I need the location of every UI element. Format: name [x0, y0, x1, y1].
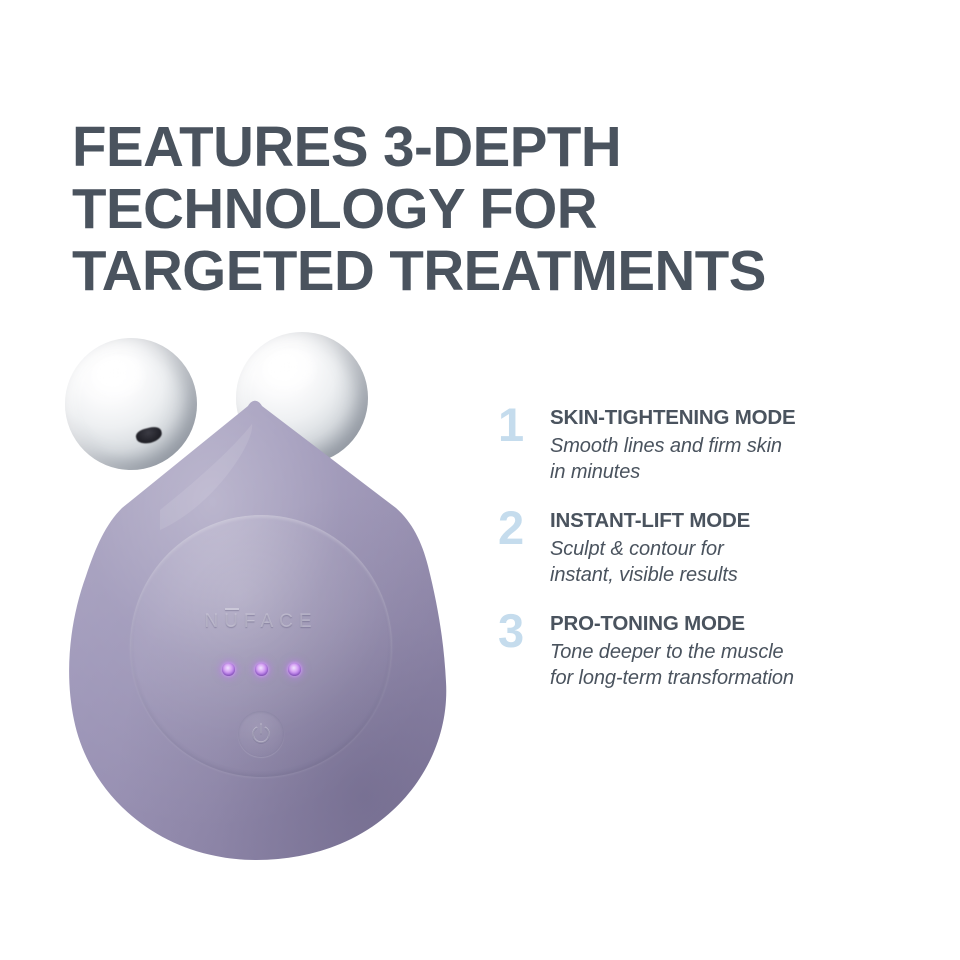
feature-description-3: Tone deeper to the muscle for long-term … [550, 639, 918, 691]
product-feature-panel: Features 3-Depth Technology for Targeted… [0, 0, 960, 960]
page-title: Features 3-Depth Technology for Targeted… [72, 116, 864, 302]
power-icon [248, 721, 274, 747]
feature-title-1: Skin-Tightening Mode [550, 406, 918, 430]
led-indicator-1 [222, 663, 235, 676]
power-button[interactable] [238, 711, 284, 757]
control-panel: NUFACE [130, 515, 392, 777]
led-indicator-group [130, 663, 392, 676]
feature-number-3: 3 [498, 610, 550, 652]
led-indicator-2 [255, 663, 268, 676]
feature-title-2: Instant-Lift Mode [550, 509, 918, 533]
feature-body-2: Instant-Lift Mode Sculpt & contour for i… [550, 507, 918, 588]
feature-body-3: Pro-Toning Mode Tone deeper to the muscl… [550, 610, 918, 691]
brand-wordmark: NUFACE [130, 611, 392, 633]
feature-list: 1 Skin-Tightening Mode Smooth lines and … [498, 404, 918, 691]
feature-item-2: 2 Instant-Lift Mode Sculpt & contour for… [498, 507, 918, 588]
feature-item-1: 1 Skin-Tightening Mode Smooth lines and … [498, 404, 918, 485]
wordmark-prefix: N [204, 611, 224, 632]
feature-item-3: 3 Pro-Toning Mode Tone deeper to the mus… [498, 610, 918, 691]
led-indicator-3 [288, 663, 301, 676]
feature-body-1: Skin-Tightening Mode Smooth lines and fi… [550, 404, 918, 485]
feature-number-1: 1 [498, 404, 550, 446]
feature-title-3: Pro-Toning Mode [550, 612, 918, 636]
product-image: NUFACE [40, 330, 490, 890]
wordmark-macron-u: U [224, 611, 244, 633]
feature-number-2: 2 [498, 507, 550, 549]
feature-description-1: Smooth lines and firm skin in minutes [550, 433, 918, 485]
feature-description-2: Sculpt & contour for instant, visible re… [550, 536, 918, 588]
wordmark-suffix: FACE [244, 611, 318, 632]
